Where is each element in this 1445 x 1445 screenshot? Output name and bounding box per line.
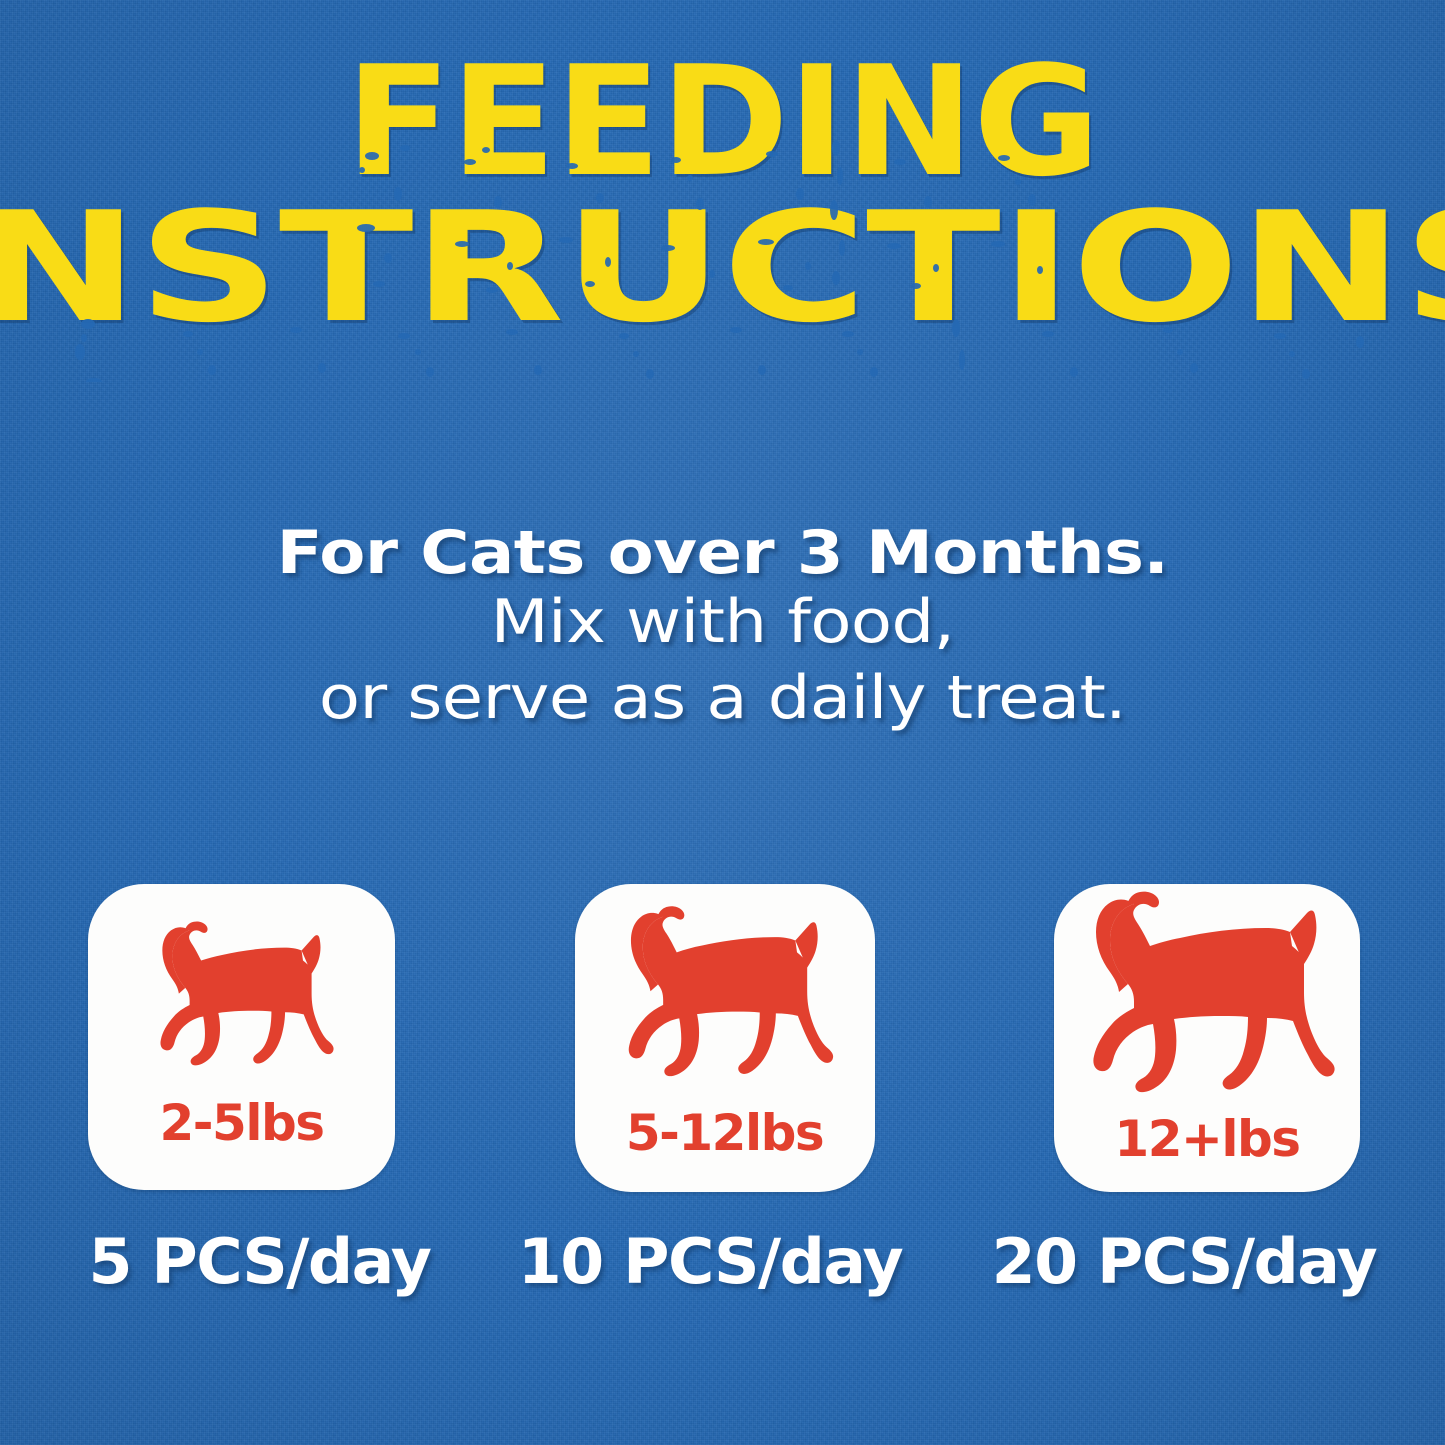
dose-label-large: 20 PCS/day	[946, 1231, 1385, 1293]
card-weight-label: 2-5lbs	[159, 1098, 323, 1148]
weight-card-medium[interactable]: 5-12lbs	[575, 884, 875, 1192]
dose-labels-row: 5 PCS/day 10 PCS/day 20 PCS/day	[70, 1222, 1380, 1302]
dose-label-small: 5 PCS/day	[66, 1231, 474, 1293]
walking-cat-icon	[148, 914, 336, 1076]
weight-card-small[interactable]: 2-5lbs	[88, 884, 395, 1190]
weight-cards-row: 2-5lbs 5-12lbs 12+lbs	[88, 884, 1360, 1194]
weight-card-large[interactable]: 12+lbs	[1054, 884, 1360, 1192]
title-line-feeding: FEEDING	[0, 52, 1445, 192]
subtitle-line-treat: or serve as a daily treat.	[0, 661, 1445, 737]
walking-cat-icon	[1076, 888, 1338, 1100]
page-title: FEEDING INSTRUCTIONS	[0, 52, 1445, 338]
subtitle-block: For Cats over 3 Months. Mix with food, o…	[0, 522, 1445, 736]
subtitle-line-age: For Cats over 3 Months.	[0, 522, 1445, 585]
card-weight-label: 12+lbs	[1114, 1114, 1299, 1164]
feeding-instructions-poster: FEEDING INSTRUCTIONS	[0, 0, 1445, 1445]
dose-label-medium: 10 PCS/day	[496, 1231, 924, 1293]
subtitle-line-mix: Mix with food,	[0, 585, 1445, 661]
card-weight-label: 5-12lbs	[626, 1108, 823, 1158]
title-line-instructions: INSTRUCTIONS	[0, 198, 1445, 338]
walking-cat-icon	[614, 900, 836, 1086]
